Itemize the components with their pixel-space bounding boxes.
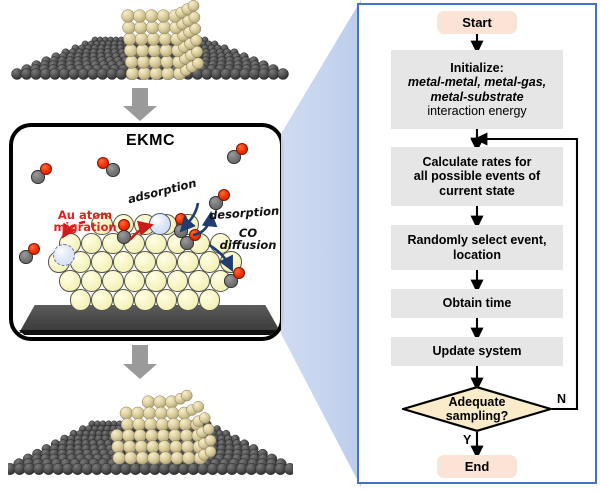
flow-node-end[interactable]: End bbox=[437, 455, 517, 478]
ekmc-schematic-box: EKMC bbox=[9, 123, 284, 341]
flow-node-end-label: End bbox=[465, 459, 490, 474]
final-model-svg bbox=[8, 362, 293, 487]
branch-label-yes: Y bbox=[463, 433, 471, 447]
initial-nanoparticle-model bbox=[8, 0, 293, 88]
flow-initialize-line2: metal-metal, metal-gas, bbox=[408, 75, 546, 90]
flow-select-line2: location bbox=[453, 248, 501, 263]
flow-calc-line3: current state bbox=[439, 184, 515, 199]
flow-node-update-system[interactable]: Update system bbox=[391, 337, 563, 366]
flow-calc-line2: all possible events of bbox=[414, 169, 540, 184]
adsorption-arrow bbox=[181, 203, 198, 231]
gold-cluster-bottom bbox=[111, 390, 216, 464]
flow-node-initialize[interactable]: Initialize: metal-metal, metal-gas, meta… bbox=[391, 50, 563, 129]
flowchart-panel: Start Initialize: metal-metal, metal-gas… bbox=[357, 3, 597, 484]
flow-update-label: Update system bbox=[433, 344, 522, 359]
flow-node-start-label: Start bbox=[462, 15, 492, 30]
flow-node-calculate-rates[interactable]: Calculate rates for all possible events … bbox=[391, 147, 563, 206]
flow-initialize-line1: Initialize: bbox=[450, 61, 504, 76]
initial-model-svg bbox=[8, 0, 293, 88]
branch-label-no: N bbox=[557, 392, 566, 406]
flow-obtain-label: Obtain time bbox=[443, 296, 512, 311]
flow-initialize-line4: interaction energy bbox=[427, 104, 526, 119]
flow-calc-line1: Calculate rates for bbox=[422, 155, 531, 170]
co-diffusion-label: CO diffusion bbox=[218, 227, 278, 252]
flow-select-line1: Randomly select event, bbox=[408, 233, 547, 248]
decision-label: Adequate sampling? bbox=[402, 386, 552, 432]
flow-initialize-line3: metal-substrate bbox=[430, 90, 523, 105]
stage-arrow-down-1 bbox=[123, 88, 157, 121]
au-migration-arrow bbox=[130, 225, 152, 240]
flow-node-start[interactable]: Start bbox=[437, 11, 517, 34]
flow-node-obtain-time[interactable]: Obtain time bbox=[391, 289, 563, 318]
decision-line2: sampling? bbox=[446, 409, 509, 423]
flow-node-select-event[interactable]: Randomly select event, location bbox=[391, 225, 563, 270]
left-illustration-panel: EKMC bbox=[0, 0, 300, 487]
au-migration-label: Au atom migration bbox=[46, 209, 124, 234]
decision-line1: Adequate bbox=[446, 395, 509, 409]
flow-node-decision[interactable]: Adequate sampling? bbox=[402, 386, 552, 432]
figure-root: EKMC bbox=[0, 0, 600, 487]
final-nanoparticle-model bbox=[8, 362, 293, 487]
